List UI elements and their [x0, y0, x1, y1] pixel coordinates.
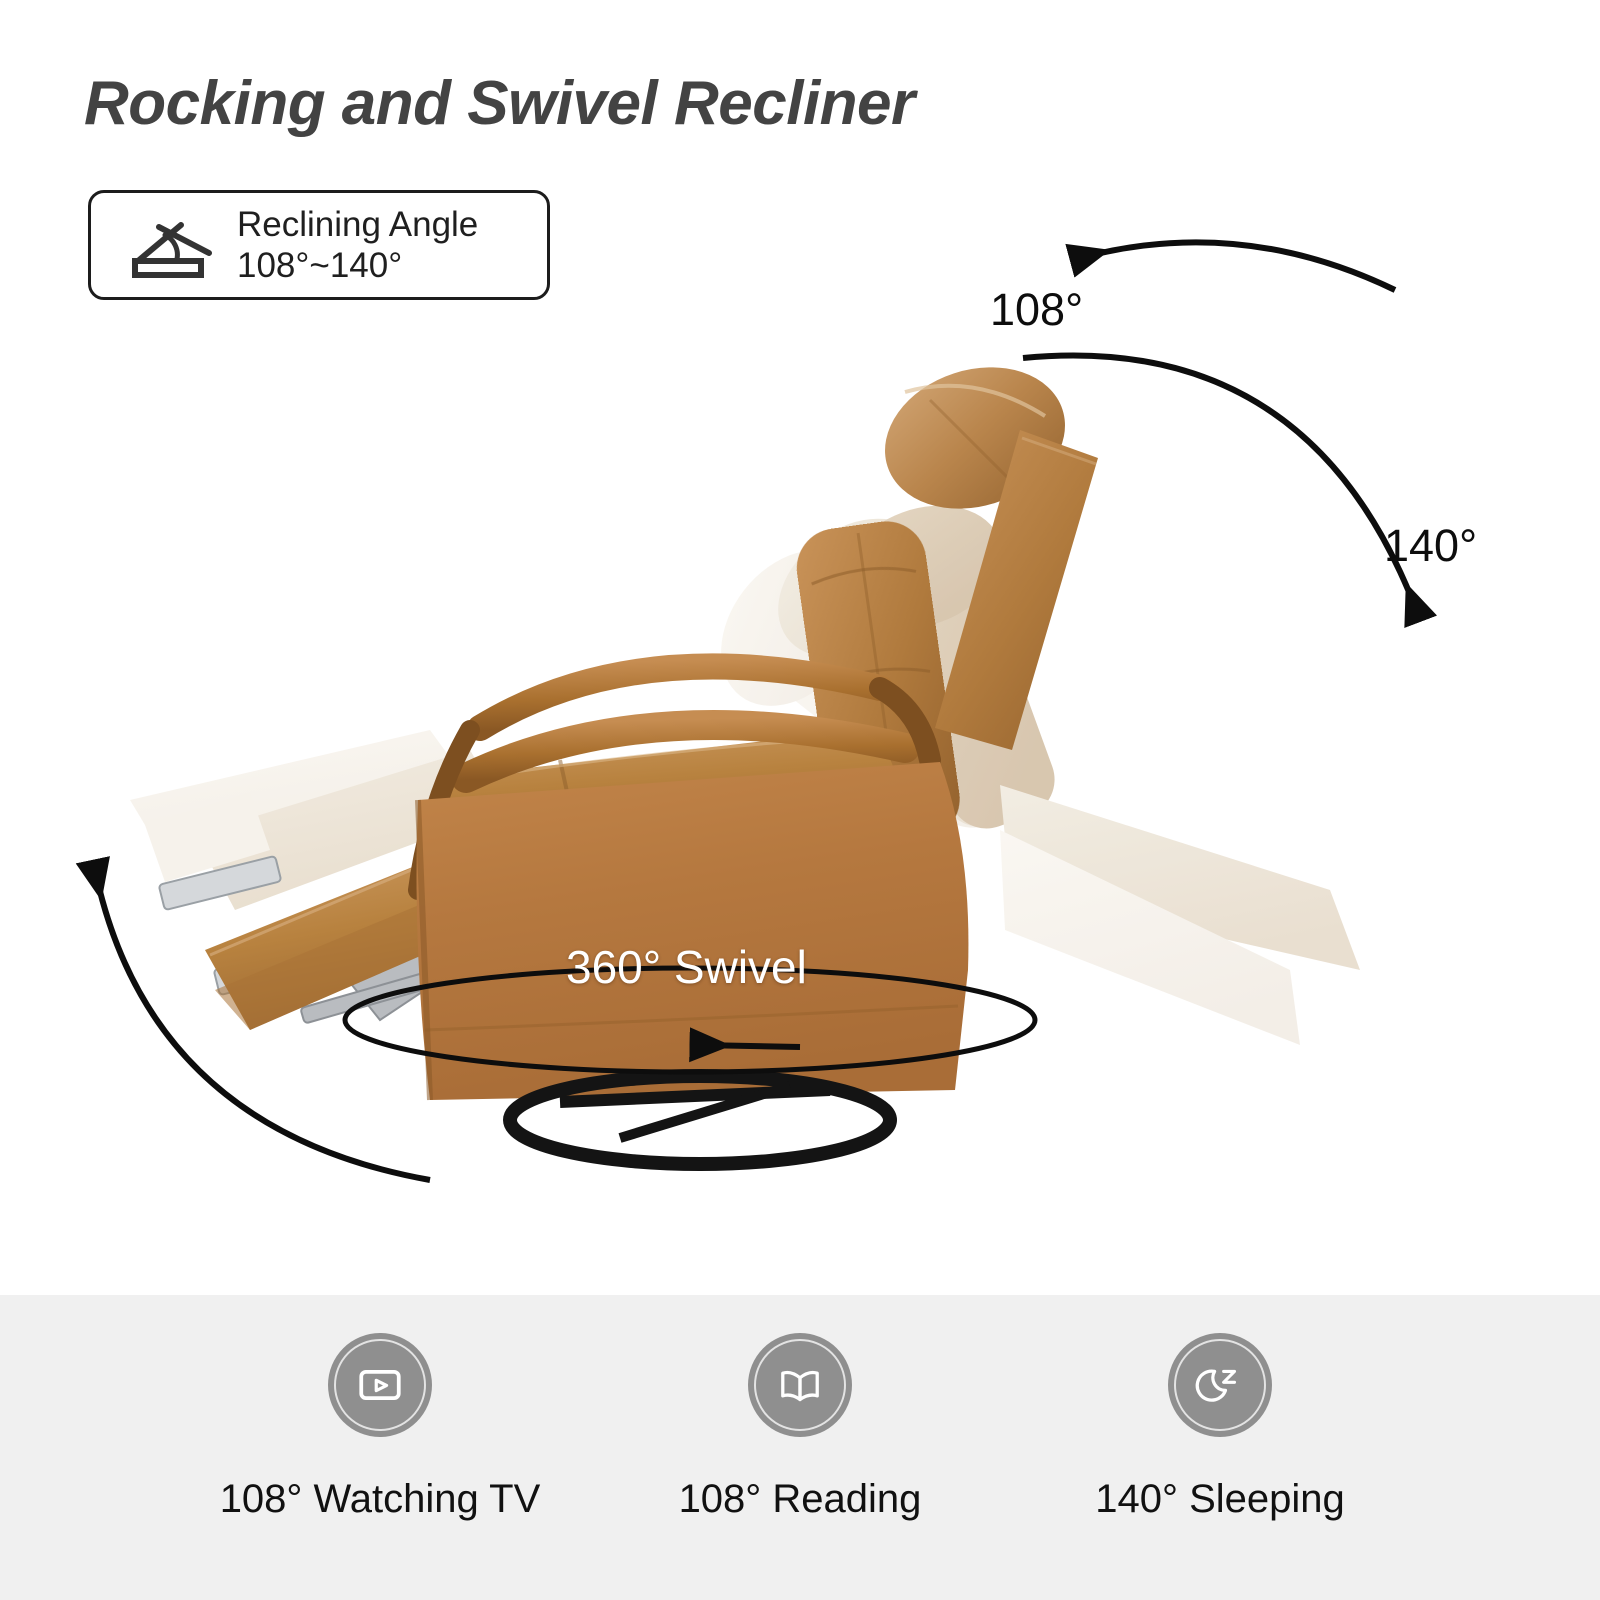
recliner-illustration — [0, 330, 1600, 1230]
page-title: Rocking and Swivel Recliner — [84, 68, 915, 139]
feature-bar: 108° Watching TV 108° Reading 140° Sleep… — [0, 1295, 1600, 1600]
tv-play-icon — [328, 1333, 432, 1437]
arc-108 — [1080, 242, 1395, 290]
feature-reading: 108° Reading — [590, 1295, 1010, 1522]
angle-label-max: 140° — [1384, 520, 1477, 572]
angle-label-min: 108° — [990, 284, 1083, 336]
badge-line-1: Reclining Angle — [237, 204, 478, 245]
moon-sleep-icon — [1168, 1333, 1272, 1437]
swivel-caption: 360° Swivel — [566, 940, 807, 994]
feature-label: 108° Watching TV — [220, 1477, 541, 1522]
badge-line-2: 108°~140° — [237, 245, 478, 286]
reclining-angle-badge: Reclining Angle 108°~140° — [88, 190, 550, 300]
open-book-icon — [748, 1333, 852, 1437]
feature-label: 140° Sleeping — [1095, 1477, 1345, 1522]
recliner-graphic — [0, 330, 1600, 1230]
feature-watching-tv: 108° Watching TV — [170, 1295, 590, 1522]
chair-side-body — [417, 762, 969, 1100]
reclining-angle-icon — [125, 209, 217, 281]
feature-label: 108° Reading — [679, 1477, 922, 1522]
feature-sleeping: 140° Sleeping — [1010, 1295, 1430, 1522]
hero-section: Rocking and Swivel Recliner Reclining An… — [0, 0, 1600, 1295]
